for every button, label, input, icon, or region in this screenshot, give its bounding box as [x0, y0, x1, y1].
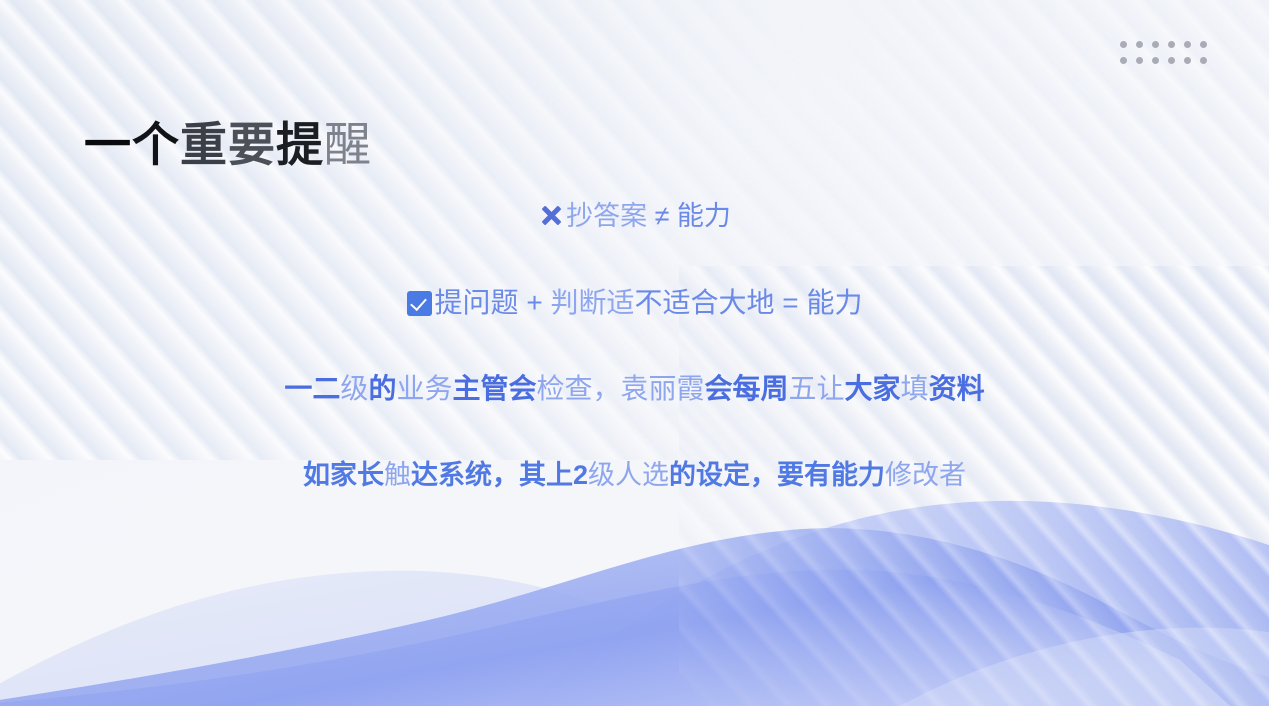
page-title-char: 个 — [132, 118, 180, 171]
body-line-3-segment: 大家 — [845, 373, 901, 404]
slide-canvas: 一个重要提醒 抄答案 ≠ 能力 提问题 + 判断适不适合大地 = 能力 一二级的… — [0, 0, 1269, 706]
body-line-3-segment: 五让 — [789, 373, 845, 404]
cross-mark-icon — [538, 202, 564, 228]
body-line-1: 抄答案 ≠ 能力 — [0, 196, 1269, 236]
grid-dot-icon — [1200, 41, 1207, 48]
body-line-1-segment: 能力 — [677, 201, 731, 231]
check-mark-box-icon — [407, 291, 432, 316]
body-line-3-segment: 主管会 — [452, 373, 536, 404]
body-line-2-segment: 提问题 — [435, 287, 519, 318]
slide-body-content: 抄答案 ≠ 能力 提问题 + 判断适不适合大地 = 能力 一二级的业务主管会检查… — [0, 196, 1269, 496]
body-line-4: 如家长触达系统，其上2级人选的设定，要有能力修改者 — [0, 454, 1269, 496]
grid-dot-icon — [1152, 41, 1159, 48]
grid-dot-icon — [1184, 57, 1191, 64]
body-line-4-segment: 触 — [384, 460, 411, 490]
body-line-2-segment: 能力 — [806, 287, 862, 318]
body-line-3-segment: 一二 — [284, 373, 340, 404]
grid-dot-icon — [1200, 57, 1207, 64]
body-line-3-segment: 级 — [340, 373, 368, 404]
grid-dot-icon — [1152, 57, 1159, 64]
body-line-4-segment: 级人选 — [588, 460, 669, 490]
grid-dot-icon — [1168, 57, 1175, 64]
body-line-3-segment: 资料 — [929, 373, 985, 404]
page-title-char: 提 — [276, 118, 324, 171]
body-line-2: 提问题 + 判断适不适合大地 = 能力 — [0, 282, 1269, 324]
body-line-2-segment: 判断适 — [550, 287, 634, 318]
body-line-2-segment: = — [775, 287, 807, 318]
page-title-char: 要 — [228, 118, 276, 171]
grid-dot-icon — [1184, 41, 1191, 48]
body-line-3-segment: 填 — [901, 373, 929, 404]
grid-dot-icon — [1136, 41, 1143, 48]
page-title: 一个重要提醒 — [84, 119, 372, 172]
body-line-4-segment: 达系统，其上2 — [411, 460, 588, 490]
page-title-char: 醒 — [324, 118, 372, 171]
body-line-3: 一二级的业务主管会检查，袁丽霞会每周五让大家填资料 — [0, 368, 1269, 410]
grid-dot-icon — [1168, 41, 1175, 48]
grid-dot-icon — [1120, 57, 1127, 64]
body-line-3-segment: 业务 — [396, 373, 452, 404]
page-title-char: 重 — [180, 118, 228, 171]
body-line-3-segment: 检查，袁丽霞 — [536, 373, 704, 404]
body-line-3-segment: 会每周 — [705, 373, 789, 404]
body-line-1-segment: ≠ — [647, 201, 677, 231]
body-line-2-segment: + — [519, 287, 551, 318]
grid-dot-icon — [1136, 57, 1143, 64]
body-line-2-segment: 不适合大地 — [635, 287, 775, 318]
body-line-4-segment: 的设定，要有能力 — [669, 460, 885, 490]
page-title-char: 一 — [84, 118, 132, 171]
body-line-4-segment: 如家长 — [303, 460, 384, 490]
decorative-dot-grid — [1120, 41, 1216, 73]
body-line-1-segment: 抄答案 — [566, 201, 647, 231]
body-line-3-segment: 的 — [368, 373, 396, 404]
body-line-4-segment: 修改者 — [885, 460, 966, 490]
grid-dot-icon — [1120, 41, 1127, 48]
